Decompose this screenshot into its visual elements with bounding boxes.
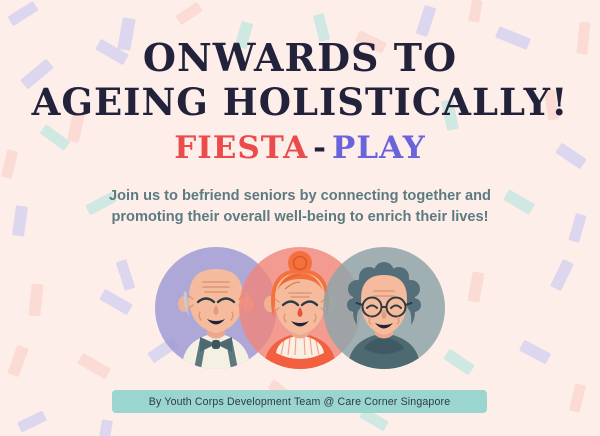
confetti-piece bbox=[468, 0, 483, 23]
headline-block: ONWARDS TO AGEING HOLISTICALLY! FIESTA-P… bbox=[0, 36, 600, 166]
subtitle-fiesta: FIESTA bbox=[174, 130, 308, 166]
confetti-piece bbox=[569, 383, 586, 413]
description-line-2: promoting their overall well-being to en… bbox=[80, 207, 520, 228]
confetti-piece bbox=[7, 345, 29, 377]
description-text: Join us to befriend seniors by connectin… bbox=[80, 186, 520, 228]
footer-credit-bar: By Youth Corps Development Team @ Care C… bbox=[112, 390, 487, 413]
confetti-piece bbox=[116, 259, 136, 291]
subtitle-dash: - bbox=[308, 130, 332, 166]
confetti-piece bbox=[77, 353, 111, 379]
confetti-piece bbox=[416, 5, 437, 37]
confetti-piece bbox=[17, 410, 47, 432]
portrait-elderly-woman-glasses bbox=[323, 247, 445, 369]
confetti-piece bbox=[467, 271, 484, 303]
description-line-1: Join us to befriend seniors by connectin… bbox=[80, 186, 520, 207]
confetti-piece bbox=[12, 205, 28, 236]
confetti-piece bbox=[99, 289, 133, 315]
confetti-piece bbox=[175, 2, 203, 26]
confetti-piece bbox=[7, 1, 38, 26]
confetti-piece bbox=[443, 349, 475, 376]
event-subtitle: FIESTA-PLAY bbox=[0, 130, 600, 166]
confetti-piece bbox=[98, 419, 113, 436]
portraits-group bbox=[155, 247, 445, 369]
poster-canvas: ONWARDS TO AGEING HOLISTICALLY! FIESTA-P… bbox=[0, 0, 600, 436]
confetti-piece bbox=[568, 213, 586, 243]
confetti-piece bbox=[28, 283, 43, 316]
confetti-piece bbox=[519, 340, 551, 365]
title-line-1: ONWARDS TO bbox=[0, 36, 600, 80]
title-line-2: AGEING HOLISTICALLY! bbox=[0, 80, 600, 124]
footer-credit-text: By Youth Corps Development Team @ Care C… bbox=[149, 396, 450, 408]
confetti-piece bbox=[550, 259, 574, 291]
subtitle-play: PLAY bbox=[332, 130, 426, 166]
